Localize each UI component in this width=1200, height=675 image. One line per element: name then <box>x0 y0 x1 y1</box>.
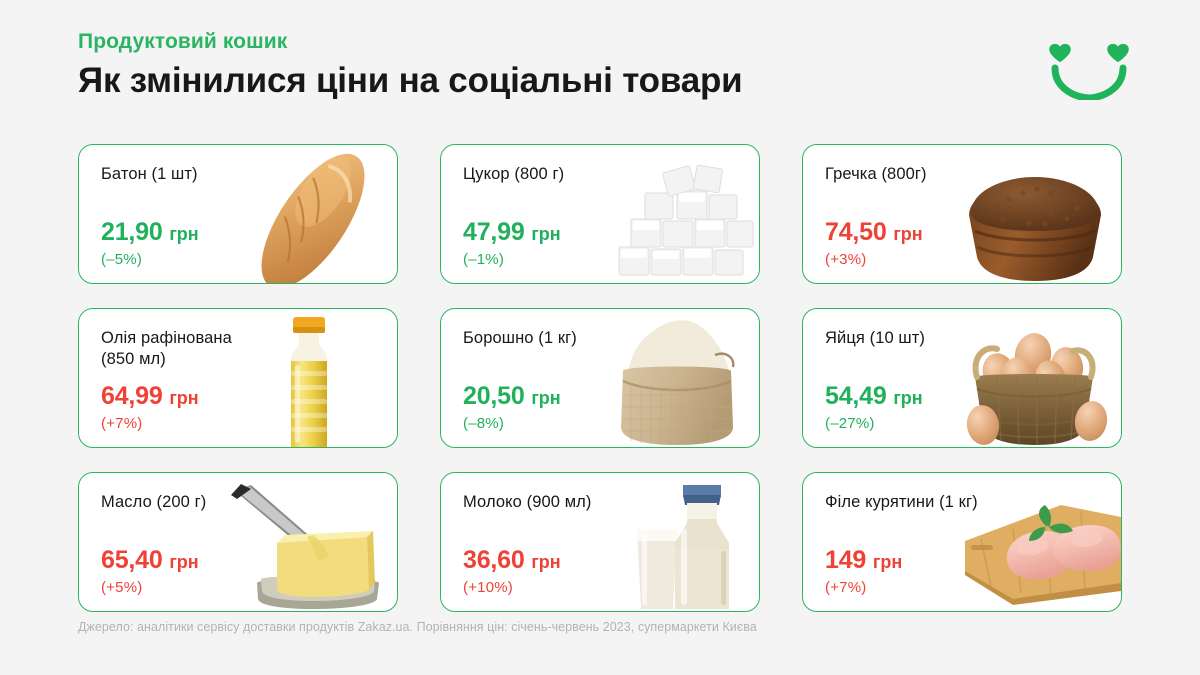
price-change-badge: (+7%) <box>825 580 1121 595</box>
zakaz-ua-smile-logo <box>1044 36 1140 100</box>
product-title: Гречка (800г) <box>825 164 1005 185</box>
product-price: 47,99 грн <box>463 220 759 245</box>
price-change-badge: (+7%) <box>101 416 397 431</box>
heart-icon-left <box>1049 44 1071 62</box>
product-title: Батон (1 шт) <box>101 164 281 185</box>
currency-label: грн <box>169 388 198 408</box>
heart-icon-right <box>1107 44 1129 62</box>
product-title: Борошно (1 кг) <box>463 328 643 349</box>
price-change-badge: (–1%) <box>463 252 759 267</box>
product-card[interactable]: Гречка (800г) 74,50 грн (+3%) <box>802 144 1122 284</box>
smile-arc-icon <box>1055 68 1123 98</box>
product-title: Масло (200 г) <box>101 492 281 513</box>
product-card[interactable]: Олія рафінована (850 мл) 64,99 грн (+7%) <box>78 308 398 448</box>
price-change-badge: (–8%) <box>463 416 759 431</box>
product-title: Філе курятини (1 кг) <box>825 492 1005 513</box>
currency-label: грн <box>893 224 922 244</box>
product-card[interactable]: Молоко (900 мл) 36,60 грн (+10%) <box>440 472 760 612</box>
product-price: 54,49 грн <box>825 384 1121 409</box>
page-title: Як змінилися ціни на соціальні товари <box>78 61 1140 100</box>
currency-label: грн <box>531 224 560 244</box>
currency-label: грн <box>169 552 198 572</box>
product-card[interactable]: Цукор (800 г) 47,99 грн (–1%) <box>440 144 760 284</box>
product-price-grid: Батон (1 шт) 21,90 грн (–5%) <box>78 144 1122 612</box>
price-change-badge: (+3%) <box>825 252 1121 267</box>
product-price: 36,60 грн <box>463 548 759 573</box>
page-header: Продуктовий кошик Як змінилися ціни на с… <box>78 30 1140 100</box>
product-title: Молоко (900 мл) <box>463 492 643 513</box>
product-price: 65,40 грн <box>101 548 397 573</box>
product-title: Цукор (800 г) <box>463 164 643 185</box>
product-price: 74,50 грн <box>825 220 1121 245</box>
price-change-badge: (+10%) <box>463 580 759 595</box>
product-price: 149 грн <box>825 548 1121 573</box>
currency-label: грн <box>531 552 560 572</box>
product-card[interactable]: Філе курятини (1 кг) 149 грн (+7%) <box>802 472 1122 612</box>
currency-label: грн <box>531 388 560 408</box>
currency-label: грн <box>893 388 922 408</box>
product-card[interactable]: Батон (1 шт) 21,90 грн (–5%) <box>78 144 398 284</box>
price-change-badge: (–5%) <box>101 252 397 267</box>
eyebrow-label: Продуктовий кошик <box>78 30 1140 53</box>
product-price: 64,99 грн <box>101 384 397 409</box>
product-title: Олія рафінована (850 мл) <box>101 328 281 371</box>
product-price: 20,50 грн <box>463 384 759 409</box>
currency-label: грн <box>873 552 902 572</box>
product-card[interactable]: Масло (200 г) 65,40 грн (+5%) <box>78 472 398 612</box>
source-note: Джерело: аналітики сервісу доставки прод… <box>78 620 757 634</box>
product-card[interactable]: Яйця (10 шт) 54,49 грн (–27%) <box>802 308 1122 448</box>
product-price: 21,90 грн <box>101 220 397 245</box>
currency-label: грн <box>169 224 198 244</box>
price-change-badge: (+5%) <box>101 580 397 595</box>
product-title: Яйця (10 шт) <box>825 328 1005 349</box>
price-change-badge: (–27%) <box>825 416 1121 431</box>
product-card[interactable]: Борошно (1 кг) 20,50 грн (–8%) <box>440 308 760 448</box>
